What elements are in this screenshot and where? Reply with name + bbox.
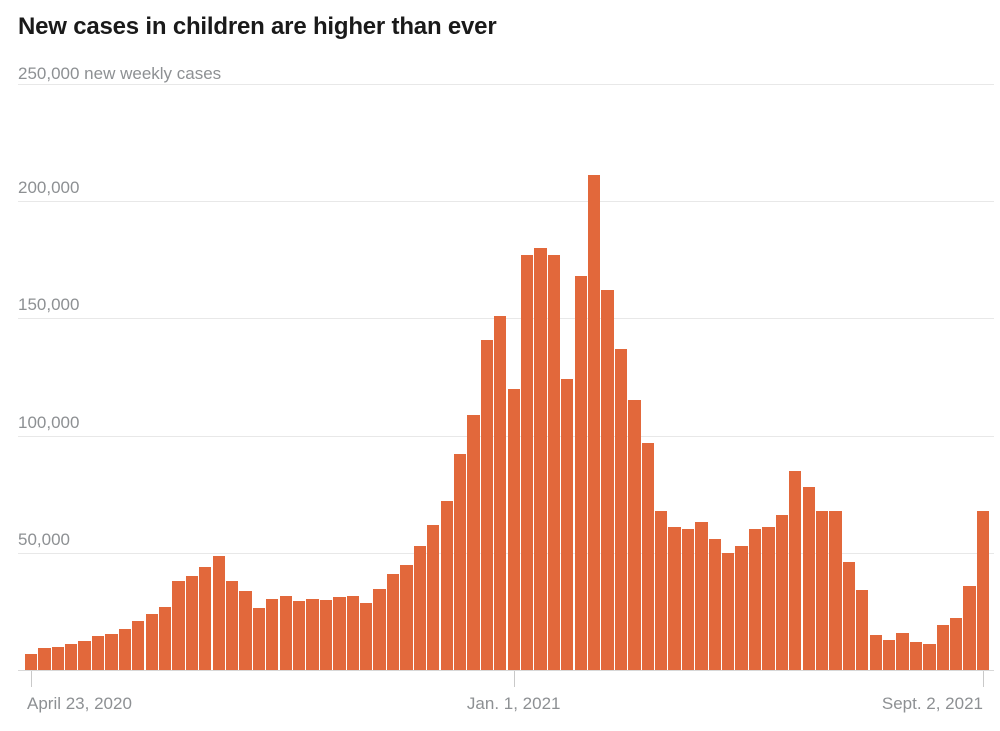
bar[interactable] xyxy=(306,599,318,670)
bar[interactable] xyxy=(199,567,211,670)
bar[interactable] xyxy=(494,316,506,670)
bar[interactable] xyxy=(454,454,466,670)
bar[interactable] xyxy=(253,608,265,670)
bar[interactable] xyxy=(360,603,372,670)
bar[interactable] xyxy=(347,596,359,670)
bar[interactable] xyxy=(239,591,251,670)
bar[interactable] xyxy=(467,415,479,670)
bar[interactable] xyxy=(816,511,828,670)
bar[interactable] xyxy=(213,556,225,670)
bar[interactable] xyxy=(172,581,184,670)
bar[interactable] xyxy=(25,654,37,670)
bar[interactable] xyxy=(910,642,922,670)
bar[interactable] xyxy=(266,599,278,670)
bar[interactable] xyxy=(803,487,815,670)
x-axis-tick-label: Jan. 1, 2021 xyxy=(467,694,561,714)
bar[interactable] xyxy=(280,596,292,670)
bar[interactable] xyxy=(829,511,841,670)
bar[interactable] xyxy=(105,634,117,670)
bar[interactable] xyxy=(186,576,198,670)
bar[interactable] xyxy=(293,601,305,670)
bar[interactable] xyxy=(132,621,144,670)
bar[interactable] xyxy=(146,614,158,670)
bar[interactable] xyxy=(427,525,439,670)
bar[interactable] xyxy=(655,511,667,670)
bar[interactable] xyxy=(373,589,385,670)
bar[interactable] xyxy=(722,553,734,670)
x-axis-tick-label: April 23, 2020 xyxy=(27,694,132,714)
bar[interactable] xyxy=(615,349,627,670)
bar[interactable] xyxy=(870,635,882,670)
bar[interactable] xyxy=(320,600,332,670)
bar[interactable] xyxy=(642,443,654,670)
bar[interactable] xyxy=(65,644,77,670)
bar[interactable] xyxy=(508,389,520,670)
bar[interactable] xyxy=(387,574,399,670)
bar[interactable] xyxy=(856,590,868,670)
bar[interactable] xyxy=(695,522,707,670)
bar[interactable] xyxy=(628,400,640,670)
bar[interactable] xyxy=(52,647,64,670)
bar[interactable] xyxy=(441,501,453,670)
bar[interactable] xyxy=(400,565,412,670)
bar[interactable] xyxy=(78,641,90,670)
bar[interactable] xyxy=(601,290,613,670)
bar-series xyxy=(0,0,1000,731)
bar[interactable] xyxy=(414,546,426,670)
x-axis-tick-label: Sept. 2, 2021 xyxy=(882,694,983,714)
bar[interactable] xyxy=(977,511,989,670)
bar[interactable] xyxy=(789,471,801,670)
bar[interactable] xyxy=(575,276,587,670)
plot-area: 50,000100,000150,000200,000 April 23, 20… xyxy=(0,0,1000,731)
bar[interactable] xyxy=(896,633,908,671)
bar[interactable] xyxy=(561,379,573,670)
bar[interactable] xyxy=(735,546,747,670)
bar[interactable] xyxy=(950,618,962,670)
bar[interactable] xyxy=(92,636,104,670)
bar[interactable] xyxy=(963,586,975,670)
bar[interactable] xyxy=(159,607,171,670)
bar[interactable] xyxy=(548,255,560,670)
bar[interactable] xyxy=(923,644,935,670)
bar[interactable] xyxy=(588,175,600,670)
bar[interactable] xyxy=(749,529,761,670)
bar[interactable] xyxy=(534,248,546,670)
bar[interactable] xyxy=(333,597,345,670)
bar[interactable] xyxy=(682,529,694,670)
x-axis-tick-mark xyxy=(514,671,515,687)
bar[interactable] xyxy=(883,640,895,670)
bar[interactable] xyxy=(119,629,131,670)
bar[interactable] xyxy=(709,539,721,670)
bar[interactable] xyxy=(843,562,855,670)
bar[interactable] xyxy=(668,527,680,670)
bar[interactable] xyxy=(776,515,788,670)
x-axis-tick-mark xyxy=(983,671,984,687)
chart-figure: New cases in children are higher than ev… xyxy=(0,0,1000,731)
bar[interactable] xyxy=(762,527,774,670)
bar[interactable] xyxy=(38,648,50,670)
x-axis-tick-mark xyxy=(31,671,32,687)
bar[interactable] xyxy=(937,625,949,670)
bar[interactable] xyxy=(226,581,238,670)
bar[interactable] xyxy=(521,255,533,670)
bar[interactable] xyxy=(481,340,493,671)
